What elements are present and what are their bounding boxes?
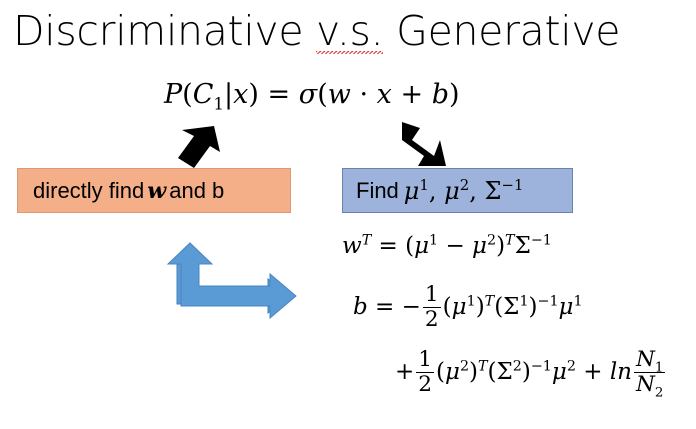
generative-parameters: μ1, μ2, Σ−1 <box>399 177 524 205</box>
eqb2-close-paren-2: ) <box>522 359 531 385</box>
eqw-w: w <box>342 233 362 259</box>
eqb1-mu1-superscript: 1 <box>467 293 476 309</box>
eqb1-mu-tail-superscript: 1 <box>573 293 582 309</box>
eqw-minus: − <box>445 233 464 259</box>
eqb1-close-paren-2: ) <box>529 294 538 320</box>
eqw-sigma: Σ <box>515 233 531 259</box>
title-suffix: Generative <box>383 7 620 55</box>
eqb1-equals: = <box>375 294 394 320</box>
eqb1-one-half-fraction: 12 <box>423 284 441 330</box>
discriminative-weight-emphasis: w <box>144 178 169 204</box>
eqb2-n2: N <box>636 372 655 397</box>
equation-bias-line-1: b = −12(μ1)T(Σ1)−1μ1 <box>353 285 583 331</box>
bent-double-arrow-up-right-icon <box>150 240 302 332</box>
equation-bias-line-2: +12(μ2)T(Σ2)−1μ2 + lnN1N2 <box>395 350 667 396</box>
formula-class-c: C <box>193 79 214 110</box>
eqb1-mu1: μ <box>452 294 467 320</box>
formula-x: x <box>233 79 248 110</box>
eqb2-plus: + <box>395 359 414 385</box>
formula-equals: = <box>268 79 291 110</box>
generative-mu1-superscript: 1 <box>419 176 428 194</box>
generative-mu2: μ <box>444 177 460 205</box>
eqb2-sigma-superscript: 2 <box>513 358 522 374</box>
formula-dot-product: · <box>359 79 368 110</box>
generative-approach-box[interactable]: Find μ1, μ2, Σ−1 <box>342 168 573 213</box>
eqb1-transpose-superscript: T <box>485 293 495 309</box>
eqb1-fraction-denominator: 2 <box>423 308 441 331</box>
formula-close-paren: ) <box>248 79 259 110</box>
formula-weight-w: w <box>328 79 351 110</box>
discriminative-approach-box[interactable]: directly find w and b <box>17 168 291 213</box>
eqb2-fraction-numerator: 1 <box>416 349 434 373</box>
eqb2-plus-2: + <box>583 359 602 385</box>
eqb2-open-paren-2: ( <box>488 359 497 385</box>
eqw-mu2-superscript: 2 <box>487 232 496 248</box>
formula-bias-b: b <box>432 79 449 110</box>
formula-class-index: 1 <box>213 93 224 113</box>
eqb1-sigma: Σ <box>503 294 519 320</box>
eqb2-n2-subscript: 2 <box>655 385 664 400</box>
formula-rhs-close-paren: ) <box>449 79 460 110</box>
formula-rhs-open-paren: ( <box>317 79 328 110</box>
eqw-close-transpose-superscript: T <box>505 232 515 248</box>
eqb2-open-paren-1: ( <box>436 359 445 385</box>
eqb1-open-paren-1: ( <box>443 294 452 320</box>
formula-p: P <box>164 79 182 110</box>
title-prefix: Discriminative <box>13 7 316 55</box>
generative-sigma-superscript: −1 <box>501 176 523 194</box>
eqb1-minus: − <box>402 294 421 320</box>
eqb2-transpose-superscript: T <box>478 358 488 374</box>
eqb1-inverse-superscript: −1 <box>538 293 559 309</box>
eqb1-sigma-superscript: 1 <box>519 293 528 309</box>
eqb2-fraction-denominator: 2 <box>416 373 434 396</box>
posterior-probability-formula: P(C1|x) = σ(w · x + b) <box>164 81 460 108</box>
eqw-mu1-superscript: 1 <box>429 232 438 248</box>
generative-comma-2: , <box>469 177 477 205</box>
eqw-open-paren: ( <box>405 233 414 259</box>
generative-mu2-superscript: 2 <box>460 176 469 194</box>
generative-mu1: μ <box>404 177 420 205</box>
generative-comma-1: , <box>429 177 437 205</box>
generative-sigma: Σ <box>485 177 502 205</box>
eqb2-mu-tail-superscript: 2 <box>567 358 576 374</box>
eqb2-close-paren-1: ) <box>469 359 478 385</box>
eqb2-mu-tail: μ <box>552 359 567 385</box>
discriminative-suffix: and b <box>169 178 224 204</box>
eqb2-n2-denominator: N2 <box>634 373 665 396</box>
formula-rhs-x: x <box>377 79 392 110</box>
eqb2-inverse-superscript: −1 <box>531 358 552 374</box>
eqb2-n1: N <box>636 347 655 372</box>
arrow-down-left-icon <box>168 122 224 174</box>
eqb2-one-half-fraction: 12 <box>416 349 434 395</box>
equation-w-transpose: wT = (μ1 − μ2)TΣ−1 <box>342 235 552 258</box>
eqb2-mu2: μ <box>445 359 460 385</box>
formula-sigma: σ <box>299 79 317 110</box>
eqb2-n1-numerator: N1 <box>634 349 665 373</box>
eqb1-b: b <box>353 294 368 320</box>
eqb2-sigma: Σ <box>497 359 513 385</box>
eqw-close-paren: ) <box>496 233 505 259</box>
eqb2-prior-ratio-fraction: N1N2 <box>634 349 665 395</box>
eqb1-open-paren-2: ( <box>494 294 503 320</box>
page-title: Discriminative v.s. Generative <box>13 7 620 55</box>
eqw-sigma-superscript: −1 <box>531 232 552 248</box>
formula-open-paren: ( <box>182 79 193 110</box>
title-misspelled-word: v.s. <box>316 7 383 55</box>
eqw-equals: = <box>379 233 398 259</box>
eqb2-mu2-superscript: 2 <box>460 358 469 374</box>
discriminative-prefix: directly find <box>33 178 144 204</box>
eqb1-fraction-numerator: 1 <box>423 284 441 308</box>
eqb1-close-paren-1: ) <box>476 294 485 320</box>
eqb1-mu-tail: μ <box>559 294 574 320</box>
formula-conditional-bar: | <box>224 79 233 110</box>
eqb2-natural-log: ln <box>610 359 632 385</box>
eqw-w-transpose-superscript: T <box>362 232 372 248</box>
eqw-mu2: μ <box>472 233 487 259</box>
slide-canvas: Discriminative v.s. Generative P(C1|x) =… <box>0 0 696 429</box>
eqw-mu1: μ <box>414 233 429 259</box>
generative-label: Find <box>356 178 399 204</box>
formula-plus: + <box>400 79 423 110</box>
arrow-down-right-icon <box>390 118 450 174</box>
